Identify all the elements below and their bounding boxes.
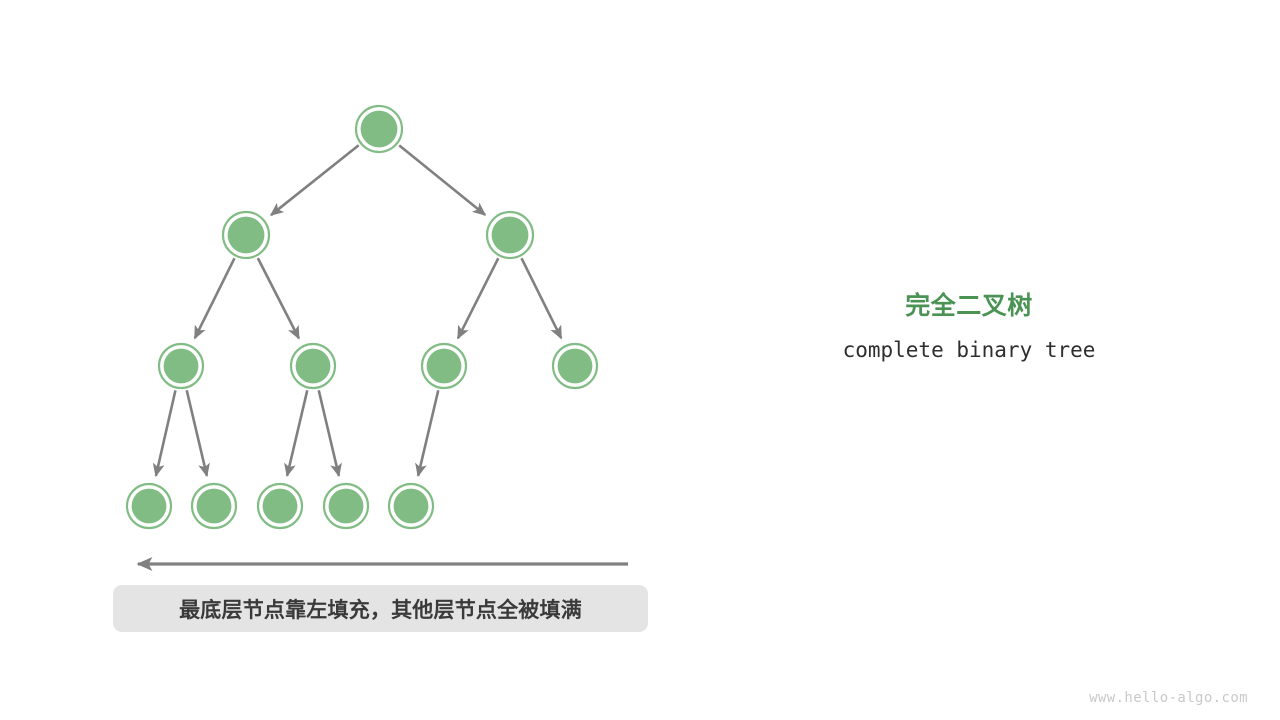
tree-edge (271, 145, 359, 215)
legend-subtitle: complete binary tree (769, 336, 1169, 364)
tree-nodes (127, 106, 597, 528)
tree-edge (319, 390, 339, 475)
tree-node (422, 344, 466, 388)
tree-node (291, 344, 335, 388)
diagram-canvas: 完全二叉树 complete binary tree 最底层节点靠左填充，其他层… (0, 0, 1280, 720)
tree-node (159, 344, 203, 388)
tree-edge (156, 390, 176, 475)
legend-title: 完全二叉树 (769, 290, 1169, 322)
tree-node (389, 484, 433, 528)
watermark: www.hello-algo.com (1089, 690, 1248, 706)
legend: 完全二叉树 complete binary tree (769, 290, 1169, 364)
tree-edge (258, 258, 299, 338)
tree-node (192, 484, 236, 528)
tree-edge (418, 390, 438, 475)
tree-node (487, 212, 533, 258)
tree-node (324, 484, 368, 528)
tree-node (127, 484, 171, 528)
tree-edge (187, 390, 207, 475)
tree-node (258, 484, 302, 528)
tree-node (553, 344, 597, 388)
tree-edge (195, 258, 235, 338)
tree-edge (458, 258, 498, 338)
tree-edges (156, 145, 561, 476)
caption-box: 最底层节点靠左填充，其他层节点全被填满 (113, 585, 648, 632)
tree-node (223, 212, 269, 258)
caption-text: 最底层节点靠左填充，其他层节点全被填满 (179, 594, 582, 624)
tree-edge (399, 145, 485, 215)
tree-edge (287, 390, 307, 475)
tree-node (356, 106, 402, 152)
tree-edge (522, 258, 562, 338)
